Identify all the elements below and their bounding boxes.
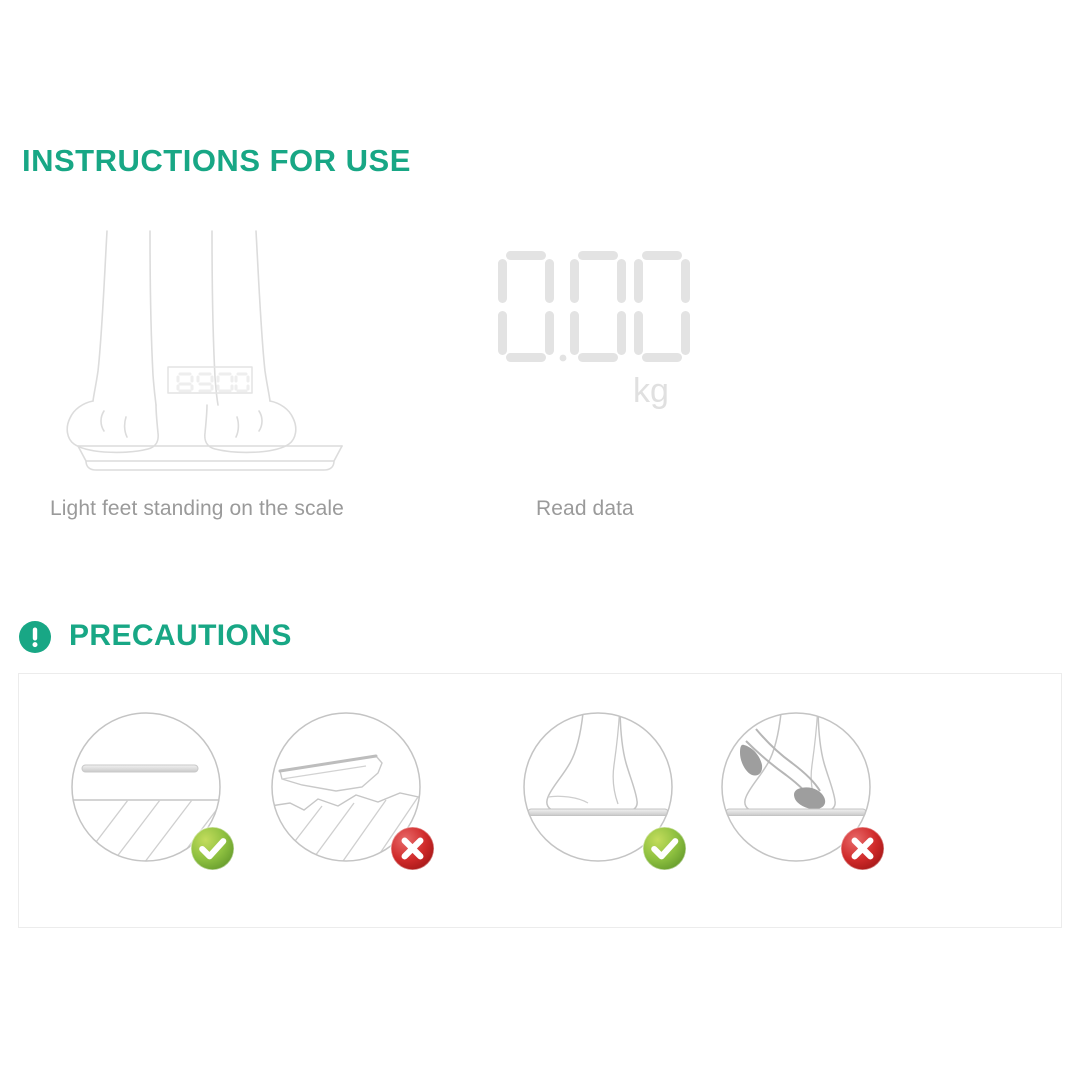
check-circle-icon [641,825,688,872]
instruction-step-read: kg Read data [470,225,700,415]
bare-feet-on-scale-icon [60,225,360,475]
precaution-item-soft-floor [270,711,422,863]
precaution-item-bare-foot [522,711,674,863]
feet-on-scale-illustration [60,225,360,480]
page-title: INSTRUCTIONS FOR USE [22,143,411,179]
seven-segment-display-icon: kg [470,225,700,410]
cross-circle-icon [389,825,436,872]
lcd-readout-illustration: kg [470,225,700,415]
precautions-heading-row: PRECAUTIONS [18,615,292,659]
instruction-steps: Light feet standing on the scale [0,225,1080,545]
exclamation-circle-icon [18,620,52,654]
instruction-step-feet: Light feet standing on the scale [60,225,360,480]
check-circle-icon [189,825,236,872]
cross-circle-icon [839,825,886,872]
precaution-item-hard-floor [70,711,222,863]
instruction-step-caption: Light feet standing on the scale [50,497,344,521]
lcd-unit-label: kg [633,372,669,410]
precautions-title: PRECAUTIONS [69,621,292,653]
instruction-step-caption: Read data [536,497,634,521]
precaution-item-sock-foot [720,711,872,863]
precautions-panel [18,673,1062,928]
